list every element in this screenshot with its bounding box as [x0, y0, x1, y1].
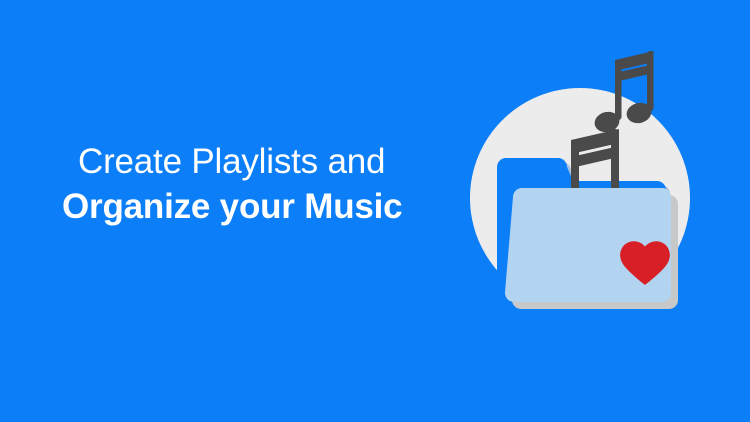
headline-line-2: Organize your Music	[60, 184, 460, 230]
folder-front	[505, 188, 671, 302]
promo-banner: Create Playlists and Organize your Music	[0, 0, 750, 422]
headline-block: Create Playlists and Organize your Music	[60, 140, 460, 230]
music-folder-illustration	[460, 40, 710, 330]
headline-line-1: Create Playlists and	[60, 140, 460, 184]
